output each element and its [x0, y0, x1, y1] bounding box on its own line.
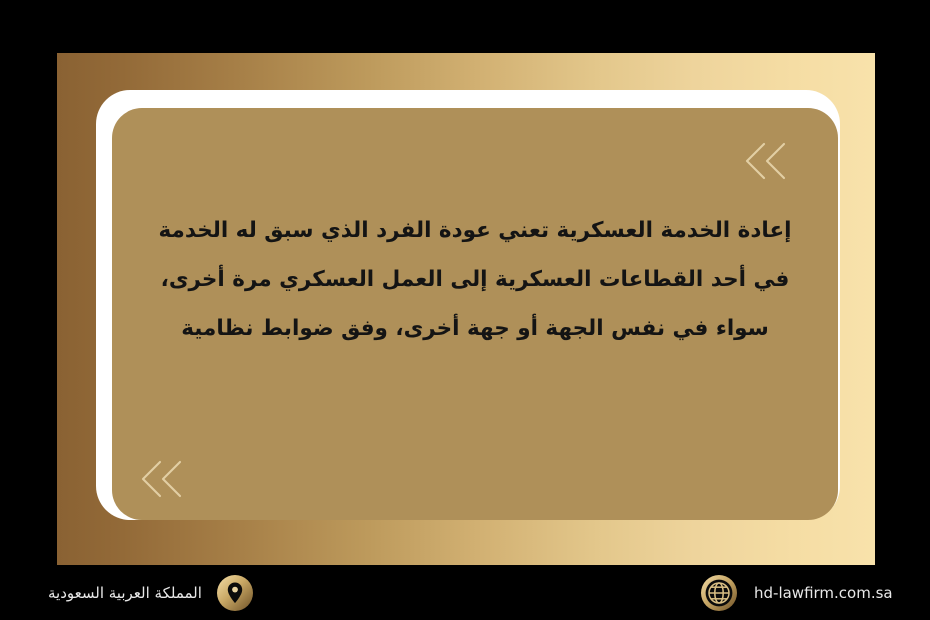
footer-bar: المملكة العربية السعودية [0, 565, 930, 620]
footer-location-group: المملكة العربية السعودية [48, 565, 254, 620]
poster-canvas: إعادة الخدمة العسكرية تعني عودة الفرد ال… [0, 0, 930, 620]
location-label: المملكة العربية السعودية [48, 584, 202, 602]
location-pin-icon [216, 574, 254, 612]
quote-card: إعادة الخدمة العسكرية تعني عودة الفرد ال… [112, 108, 838, 520]
double-chevron-left-icon [136, 456, 194, 502]
double-chevron-left-icon [740, 138, 798, 184]
quote-text: إعادة الخدمة العسكرية تعني عودة الفرد ال… [112, 206, 838, 353]
website-label[interactable]: hd-lawfirm.com.sa [754, 584, 893, 602]
footer-website-group[interactable]: hd-lawfirm.com.sa [700, 565, 893, 620]
globe-icon [700, 574, 738, 612]
